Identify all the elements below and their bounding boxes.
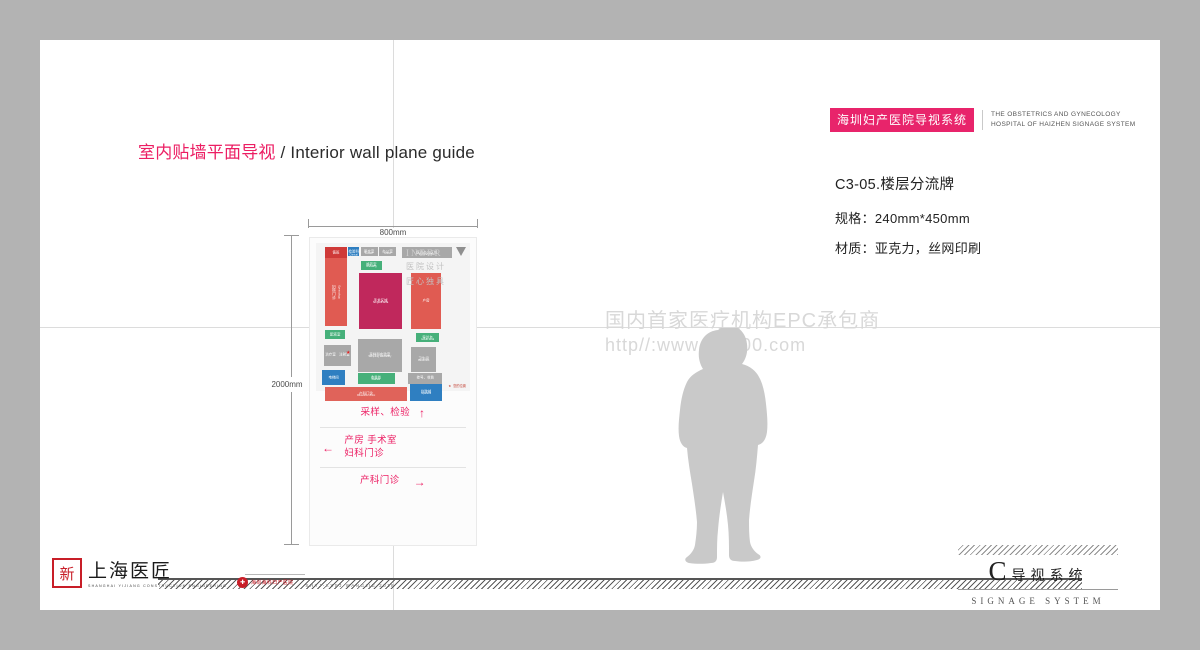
map-room-label-en: Surgical area <box>359 302 402 305</box>
map-room-label-en: Restroom <box>411 360 436 363</box>
map-room-label-en: Guide desk <box>416 339 439 342</box>
map-room-label-en: Inpatient <box>410 394 442 397</box>
map-room-label-cn: 配液室 <box>325 332 345 336</box>
map-room-label-cn: 电梯间 <box>322 375 345 379</box>
footer-hatching <box>958 545 1118 555</box>
brand-english-line2: HOSPITAL OF HAIZHEN SIGNAGE SYSTEM <box>991 120 1135 130</box>
spec-block: C3-05.楼层分流牌 规格：240mm*450mm 材质：亚克力，丝网印刷 <box>835 173 981 268</box>
map-room-block: 检验科Clinical lab <box>348 247 359 256</box>
map-room-label-cn: 挂号、收费 <box>408 376 442 380</box>
map-room-label-en: Dressing <box>361 266 383 269</box>
map-room-block: 办公室Office <box>379 247 396 256</box>
map-room-block: 挂号、收费 <box>408 373 442 383</box>
dimension-width-label-wrap: 800mm <box>308 228 478 237</box>
map-room-label-en: Medical office <box>402 254 451 257</box>
map-room-block: 更衣室Locker <box>361 247 378 256</box>
direction-row: 产科门诊→ <box>320 468 466 495</box>
triangle-icon <box>456 247 466 256</box>
map-room-block: 卫生间Restroom <box>411 347 436 372</box>
map-room-label-en: Obstetrics clinic <box>325 395 407 398</box>
map-room-label-cn: 产房 <box>411 298 440 302</box>
footer-left: 新 上海医匠 SHANGHAI YIJIANG CONSTRUCTION ENG… <box>52 558 395 588</box>
map-room-block: 采样科实验室Sampling laboratory <box>358 339 403 372</box>
person-silhouette <box>660 328 770 580</box>
sheet-page: 室内贴墙平面导视 / Interior wall plane guide 海圳妇… <box>40 40 1160 610</box>
map-room-label-cn: 治疗室 <box>324 353 338 357</box>
section-lockup: C 导视系统 <box>958 558 1118 590</box>
hospital-mark-text: 海圳海科妇产医院 <box>251 579 293 586</box>
map-room-block: 手术区域Surgical area <box>359 273 402 329</box>
map-room-block: 电梯间 <box>322 370 345 385</box>
map-room-block: 收费处Cashier <box>358 373 395 383</box>
direction-arrow-icon: ← <box>322 442 334 454</box>
brand-badge: 海圳妇产医院导视系统 <box>830 108 974 132</box>
map-room-label-en: Office <box>379 253 396 256</box>
map-room-label-cn: 值班 <box>325 250 347 254</box>
floor-plan-map: 住院部Inpatient产科门诊Obstetrics clinic挂号、收费收费… <box>316 243 470 391</box>
map-legend: ★ 您的位置 <box>448 383 466 388</box>
direction-label: 产房 手术室妇科门诊 <box>344 435 397 461</box>
footer-right: C 导视系统 SIGNAGE SYSTEM <box>958 545 1118 606</box>
map-room-block: 换药室Dressing <box>361 261 383 270</box>
hospital-mark: ✚ 海圳海科妇产医院 <box>237 577 293 588</box>
map-room-label-en: Cashier <box>358 380 395 383</box>
page-title-en: / Interior wall plane guide <box>281 143 475 162</box>
map-room-block: 妇科门诊Gynecology <box>325 258 347 326</box>
map-room-block: 值班 <box>325 247 347 257</box>
dimension-height-cap-top <box>284 235 299 236</box>
map-room-block: 医务办公区域Medical office <box>402 247 451 257</box>
map-room-label-en: Sampling laboratory <box>358 357 403 360</box>
map-room-label-en: Gynecology <box>337 285 340 299</box>
signage-board: 住院部Inpatient产科门诊Obstetrics clinic挂号、收费收费… <box>310 238 476 545</box>
map-room-block: 治疗室 <box>324 345 338 366</box>
map-legend-label: 您的位置 <box>453 383 466 388</box>
direction-label: 采样、检验 <box>361 407 411 420</box>
map-room-block: 导诊台Guide desk <box>416 333 439 342</box>
company-subtitle: SHANGHAI YIJIANG CONSTRUCTION ENGINEERIN… <box>88 584 227 588</box>
map-room-block: 住院部Inpatient <box>410 384 442 402</box>
map-room-block: 产房 <box>411 273 440 329</box>
section-letter: C <box>988 558 1006 585</box>
section-name-cn: 导视系统 <box>1012 568 1088 582</box>
brand-english-line1: THE OBSTETRICS AND GYNECOLOGY <box>991 110 1135 120</box>
map-room-label-en: Clinical lab <box>348 254 359 256</box>
map-legend-star-icon: ★ <box>448 384 451 388</box>
footer-divider <box>245 574 305 575</box>
spec-title: C3-05.楼层分流牌 <box>835 173 981 194</box>
dimension-height-cap-bottom <box>284 544 299 545</box>
hospital-logo-icon: ✚ <box>237 577 248 588</box>
direction-label-line: 采样、检验 <box>361 407 411 420</box>
map-room-label-en: Locker <box>361 253 378 256</box>
section-name-en: SIGNAGE SYSTEM <box>958 596 1118 606</box>
direction-list: 采样、检验↑←产房 手术室妇科门诊产科门诊→ <box>320 400 466 495</box>
direction-label: 产科门诊 <box>360 475 400 488</box>
map-room-label-cn: 妇科门诊 <box>332 284 336 299</box>
dimension-width-bar <box>308 226 478 227</box>
page-title: 室内贴墙平面导视 / Interior wall plane guide <box>138 138 475 163</box>
direction-label-line: 妇科门诊 <box>344 448 397 461</box>
spec-size: 规格：240mm*450mm <box>835 208 981 227</box>
dimension-width-label: 800mm <box>375 228 412 237</box>
direction-arrow-icon: → <box>414 476 426 488</box>
map-room-block: 配液室 <box>325 330 345 339</box>
seal-icon: 新 <box>52 558 82 588</box>
company-lockup: 上海医匠 SHANGHAI YIJIANG CONSTRUCTION ENGIN… <box>88 562 227 588</box>
brand-lockup: 海圳妇产医院导视系统 THE OBSTETRICS AND GYNECOLOGY… <box>830 108 1135 132</box>
dimension-height: 2000mm <box>280 235 302 545</box>
hospital-name: 海圳海科妇产医院 <box>251 579 293 586</box>
direction-arrow-icon: ↑ <box>419 407 425 419</box>
direction-label-line: 产房 手术室 <box>344 435 397 448</box>
spec-material: 材质：亚克力，丝网印刷 <box>835 238 981 257</box>
page-title-cn: 室内贴墙平面导视 <box>138 143 276 162</box>
brand-english: THE OBSTETRICS AND GYNECOLOGY HOSPITAL O… <box>982 110 1135 130</box>
you-are-here-star-icon: ★ <box>346 351 350 356</box>
direction-label-line: 产科门诊 <box>360 475 400 488</box>
project-code: SHYJ-XXSJ-WANGJIE-2018 <box>305 583 395 588</box>
direction-row: 采样、检验↑ <box>320 400 466 428</box>
guide-line-horizontal <box>40 327 1160 328</box>
direction-row: ←产房 手术室妇科门诊 <box>320 428 466 469</box>
map-watermark-cn-1: 医院设计 <box>406 261 468 273</box>
company-name: 上海医匠 <box>88 562 227 581</box>
dimension-width: 800mm <box>308 215 478 237</box>
